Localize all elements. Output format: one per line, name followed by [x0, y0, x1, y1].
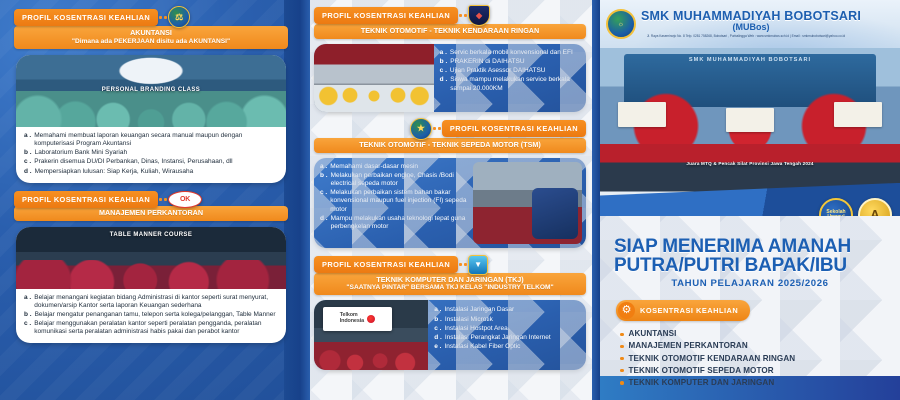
list-item: b .Belajar mengatur penanganan tamu, tel…: [24, 311, 279, 319]
slogan-line-3: TAHUN PELAJARAN 2025/2026: [614, 278, 886, 289]
item-text: Instalasi Kabel Fiber Optic: [444, 343, 520, 351]
profil-kosentrasi-label: PROFIL KOSENTRASI KEAHLIAN: [314, 256, 458, 273]
list-item: b .Instalasi Microtik: [434, 316, 580, 324]
panel-manajemen-photo: TABLE MANNER COURSE: [16, 227, 286, 289]
header-connector: [432, 124, 442, 134]
item-key: c .: [320, 189, 327, 214]
list-item: MANAJEMEN PERKANTORAN: [620, 340, 886, 352]
telkom-mark-icon: [367, 315, 375, 323]
bullet-icon: [620, 381, 624, 385]
profil-kosentrasi-label: PROFIL KOSENTRASI KEAHLIAN: [314, 7, 458, 24]
kosentrasi-item-label: TEKNIK OTOMOTIF SEPEDA MOTOR: [629, 365, 774, 377]
kosentrasi-keahlian-chip: ⚙ KOSENTRASI KEAHLIAN: [616, 300, 750, 321]
item-text: Mampu melakukan usaha teknologi tepat gu…: [331, 215, 470, 231]
telkom-logo: Telkom Indonesia: [323, 307, 392, 331]
item-key: a .: [440, 49, 447, 57]
item-text: PRAKERIN di DAIHATSU: [450, 58, 524, 66]
gear-icon: ⚙: [618, 302, 635, 319]
panel-title: TEKNIK OTOMOTIF - TEKNIK KENDARAAN RINGA…: [320, 27, 580, 36]
list-item: b .Melakukan perbaikan engine, Chasis /B…: [320, 172, 469, 188]
header-top-row: PROFIL KOSENTRASI KEAHLIAN ◆: [314, 5, 586, 26]
panel-manajemen-card: TABLE MANNER COURSE a .Belajar menangani…: [16, 227, 286, 344]
kosentrasi-item-label: AKUNTANSI: [629, 328, 677, 340]
school-address: Jl. Raya Kasemirarjo No. 8 Telp. 0281 75…: [641, 34, 851, 38]
panel-title: TEKNIK KOMPUTER DAN JARINGAN (TKJ): [320, 276, 580, 285]
item-key: b .: [440, 58, 448, 66]
accreditation-badges: Sekolah Unggul A: [819, 198, 892, 216]
list-item: c .Melakukan perbaikan sistem bahan baka…: [320, 189, 469, 214]
bullet-icon: [620, 345, 624, 349]
item-key: c .: [434, 325, 441, 333]
list-item: d .Mampu melakukan usaha teknologi tepat…: [320, 215, 469, 231]
panel-tkr-list: a .Servic berkala mobil konvensional dan…: [434, 44, 586, 112]
item-key: b .: [434, 316, 442, 324]
item-text: Melakukan perbaikan engine, Chasis /Bodi…: [331, 172, 470, 188]
column-left: PROFIL KOSENTRASI KEAHLIAN ⚖ AKUNTANSI "…: [0, 0, 300, 400]
list-item: TEKNIK KOMPUTER DAN JARINGAN: [620, 377, 886, 389]
panel-tsm-title-bar: TEKNIK OTOMOTIF - TEKNIK SEPEDA MOTOR (T…: [314, 138, 586, 153]
list-item: d .Instalasi Perangkat Jaringan Internet: [434, 334, 580, 342]
daihatsu-shield-icon: ◆: [468, 5, 490, 26]
list-item: e .Instalasi Kabel Fiber Optic: [434, 343, 580, 351]
panel-title: MANAJEMEN PERKANTORAN: [20, 209, 282, 218]
header-connector: [458, 11, 468, 21]
item-key: d .: [24, 168, 32, 176]
school-titles: SMK MUHAMMADIYAH BOBOTSARI (MUBos) Jl. R…: [641, 10, 861, 39]
panel-tkj-photo: Telkom Indonesia: [314, 300, 428, 370]
item-key: a .: [320, 163, 327, 171]
school-round-icon: ★: [410, 118, 432, 140]
list-item: c .Instalasi Hostpot Area: [434, 325, 580, 333]
panel-title: TEKNIK OTOMOTIF - TEKNIK SEPEDA MOTOR (T…: [320, 141, 580, 150]
photo-caption: TABLE MANNER COURSE: [16, 227, 286, 289]
header-top-row: ★ PROFIL KOSENTRASI KEAHLIAN: [314, 118, 586, 140]
kosentrasi-item-label: MANAJEMEN PERKANTORAN: [629, 340, 748, 352]
slogan-line-1: SIAP MENERIMA AMANAH: [614, 238, 886, 257]
panel-akuntansi-header: PROFIL KOSENTRASI KEAHLIAN ⚖ AKUNTANSI "…: [0, 0, 300, 49]
header-top-row: PROFIL KOSENTRASI KEAHLIAN ▼: [314, 255, 586, 275]
kosentrasi-list: AKUNTANSI MANAJEMEN PERKANTORAN TEKNIK O…: [620, 328, 886, 389]
badge-text: A: [870, 208, 879, 216]
profil-kosentrasi-label: PROFIL KOSENTRASI KEAHLIAN: [14, 9, 158, 26]
item-text: Laboratorium Bank Mini Syariah: [35, 149, 128, 157]
item-key: a .: [24, 294, 31, 310]
school-abbr: (MUBos): [641, 22, 861, 33]
photo-caption: PERSONAL BRANDING CLASS: [16, 55, 286, 127]
item-key: b .: [24, 149, 32, 157]
item-text: Belajar menggunakan peralatan kantor sep…: [34, 320, 279, 336]
profil-kosentrasi-label: PROFIL KOSENTRASI KEAHLIAN: [442, 120, 586, 137]
middle-right-edge: [592, 0, 600, 400]
smk-muhammadiyah-logo-icon: ☼: [606, 9, 636, 39]
item-text: Instalasi Perangkat Jaringan Internet: [445, 334, 551, 342]
panel-tkj-list: a .Instalasi Jaringan Dasar b .Instalasi…: [428, 300, 586, 370]
right-column-body: SIAP MENERIMA AMANAH PUTRA/PUTRI BAPAK/I…: [600, 216, 900, 389]
list-item: TEKNIK OTOMOTIF SEPEDA MOTOR: [620, 365, 886, 377]
panel-manajemen-header: PROFIL KOSENTRASI KEAHLIAN OK MANAJEMEN …: [0, 183, 300, 221]
school-name: SMK MUHAMMADIYAH BOBOTSARI: [641, 10, 861, 23]
item-key: e .: [434, 343, 441, 351]
item-text: Siswa mampu melakukan service berkala sa…: [450, 76, 580, 92]
panel-manajemen-list: a .Belajar menangani kegiatan bidang Adm…: [16, 289, 286, 344]
list-item: c .Prakerin disemua DU/DI Perbankan, Din…: [24, 158, 279, 166]
panel-tkr-card: a .Servic berkala mobil konvensional dan…: [314, 44, 586, 112]
item-key: a .: [434, 306, 441, 314]
profil-kosentrasi-label: PROFIL KOSENTRASI KEAHLIAN: [14, 191, 158, 208]
list-item: a .Belajar menangani kegiatan bidang Adm…: [24, 294, 279, 310]
badge-text: Sekolah Unggul: [821, 210, 851, 217]
item-text: Servic berkala mobil konvensional dan EF…: [450, 49, 573, 57]
item-text: Mempersiapkan lulusan: Siap Kerja, Kulia…: [35, 168, 194, 176]
panel-tkj-header: PROFIL KOSENTRASI KEAHLIAN ▼ TEKNIK KOMP…: [300, 248, 600, 296]
item-text: Instalasi Microtik: [445, 316, 493, 324]
list-item: TEKNIK OTOMOTIF KENDARAAN RINGAN: [620, 353, 886, 365]
item-text: Memahami membuat laporan keuangan secara…: [34, 132, 279, 148]
brochure-page: PROFIL KOSENTRASI KEAHLIAN ⚖ AKUNTANSI "…: [0, 0, 900, 400]
item-key: b .: [320, 172, 328, 188]
item-text: Memahami dasar-dasar mesin: [330, 163, 418, 171]
item-text: Instalasi Hostpot Area: [444, 325, 507, 333]
list-item: a .Memahami membuat laporan keuangan sec…: [24, 132, 279, 148]
panel-manajemen-title-bar: MANAJEMEN PERKANTORAN: [14, 206, 288, 221]
kosentrasi-chip-label: KOSENTRASI KEAHLIAN: [640, 306, 738, 315]
panel-akuntansi-list: a .Memahami membuat laporan keuangan sec…: [16, 127, 286, 183]
school-header: ☼ SMK MUHAMMADIYAH BOBOTSARI (MUBos) Jl.…: [600, 0, 900, 48]
list-item: a .Memahami dasar-dasar mesin: [320, 163, 469, 171]
panel-tsm-card: a .Memahami dasar-dasar mesin b .Melakuk…: [314, 158, 586, 248]
header-connector: [458, 260, 468, 270]
list-item: b .Laboratorium Bank Mini Syariah: [24, 149, 279, 157]
item-text: Prakerin disemua DU/DI Perbankan, Dinas,…: [34, 158, 232, 166]
item-key: b .: [24, 311, 32, 319]
panel-akuntansi-photo: PERSONAL BRANDING CLASS: [16, 55, 286, 127]
list-item: c .Ujian Praktik Asessor DAIHATSU: [440, 67, 580, 75]
panel-tsm-list: a .Memahami dasar-dasar mesin b .Melakuk…: [314, 158, 473, 248]
students-photo: SMK MUHAMMADIYAH BOBOTSARI: [600, 48, 900, 144]
panel-tkr-header: PROFIL KOSENTRASI KEAHLIAN ◆ TEKNIK OTOM…: [300, 0, 600, 39]
list-item: a .Instalasi Jaringan Dasar: [434, 306, 580, 314]
kosentrasi-item-label: TEKNIK KOMPUTER DAN JARINGAN: [629, 377, 775, 389]
item-key: c .: [24, 320, 31, 336]
list-item: AKUNTANSI: [620, 328, 886, 340]
bullet-icon: [620, 369, 624, 373]
panel-subtitle: "SAATNYA PINTAR" BERSAMA TKJ KELAS "INDU…: [320, 284, 580, 292]
panel-akuntansi-title-bar: AKUNTANSI "Dimana ada PEKERJAAN disitu a…: [14, 26, 288, 49]
sekolah-unggul-badge-icon: Sekolah Unggul: [819, 198, 853, 216]
panel-tkj-card: Telkom Indonesia a .Instalasi Jaringan D…: [314, 300, 586, 370]
item-key: d .: [320, 215, 328, 231]
slogan-line-2: PUTRA/PUTRI BAPAK/IBU: [614, 257, 886, 276]
header-connector: [158, 194, 168, 204]
panel-tsm-header: ★ PROFIL KOSENTRASI KEAHLIAN TEKNIK OTOM…: [300, 112, 600, 153]
scales-of-justice-icon: ⚖: [168, 6, 190, 28]
item-text: Belajar mengatur penanganan tamu, telepo…: [35, 311, 276, 319]
column-right: ☼ SMK MUHAMMADIYAH BOBOTSARI (MUBos) Jl.…: [600, 0, 900, 400]
certificate: [618, 102, 666, 127]
panel-tkj-title-bar: TEKNIK KOMPUTER DAN JARINGAN (TKJ) "SAAT…: [314, 273, 586, 296]
award-photo: Juara MTQ & Pencak Silat Provinsi Jawa T…: [600, 144, 900, 216]
item-key: c .: [440, 67, 447, 75]
panel-tkr-photo: [314, 44, 434, 112]
item-text: Ujian Praktik Asessor DAIHATSU: [450, 67, 546, 75]
item-key: d .: [440, 76, 448, 92]
item-key: a .: [24, 132, 31, 148]
item-key: d .: [434, 334, 442, 342]
akreditasi-a-badge-icon: A: [858, 198, 892, 216]
list-item: a .Servic berkala mobil konvensional dan…: [440, 49, 580, 57]
triangle-network-icon: ▼: [468, 255, 488, 275]
panel-title: AKUNTANSI: [20, 29, 282, 38]
certificate: [726, 108, 774, 133]
certificate: [834, 102, 882, 127]
bullet-icon: [620, 357, 624, 361]
item-text: Instalasi Jaringan Dasar: [444, 306, 514, 314]
panel-tsm-photo: [473, 162, 582, 244]
panel-akuntansi-card: PERSONAL BRANDING CLASS a .Memahami memb…: [16, 55, 286, 183]
list-item: d .Siswa mampu melakukan service berkala…: [440, 76, 580, 92]
header-connector: [158, 12, 168, 22]
panel-subtitle: "Dimana ada PEKERJAAN disitu ada AKUNTAN…: [20, 38, 282, 46]
column-middle: PROFIL KOSENTRASI KEAHLIAN ◆ TEKNIK OTOM…: [300, 0, 600, 400]
bullet-icon: [620, 333, 624, 337]
header-top-row: PROFIL KOSENTRASI KEAHLIAN OK: [14, 191, 288, 208]
header-top-row: PROFIL KOSENTRASI KEAHLIAN ⚖: [14, 6, 288, 28]
panel-tkr-title-bar: TEKNIK OTOMOTIF - TEKNIK KENDARAAN RINGA…: [314, 24, 586, 39]
kosentrasi-item-label: TEKNIK OTOMOTIF KENDARAAN RINGAN: [629, 353, 796, 365]
list-item: c .Belajar menggunakan peralatan kantor …: [24, 320, 279, 336]
middle-left-edge: [300, 0, 310, 400]
item-text: Melakukan perbaikan sistem bahan bakar k…: [330, 189, 469, 214]
list-item: b .PRAKERIN di DAIHATSU: [440, 58, 580, 66]
telkom-wordmark-2: Indonesia: [340, 319, 364, 325]
list-item: d .Mempersiapkan lulusan: Siap Kerja, Ku…: [24, 168, 279, 176]
award-caption: Juara MTQ & Pencak Silat Provinsi Jawa T…: [600, 161, 900, 166]
item-text: Belajar menangani kegiatan bidang Admini…: [34, 294, 279, 310]
ok-oval-icon: OK: [168, 191, 202, 208]
item-key: c .: [24, 158, 31, 166]
